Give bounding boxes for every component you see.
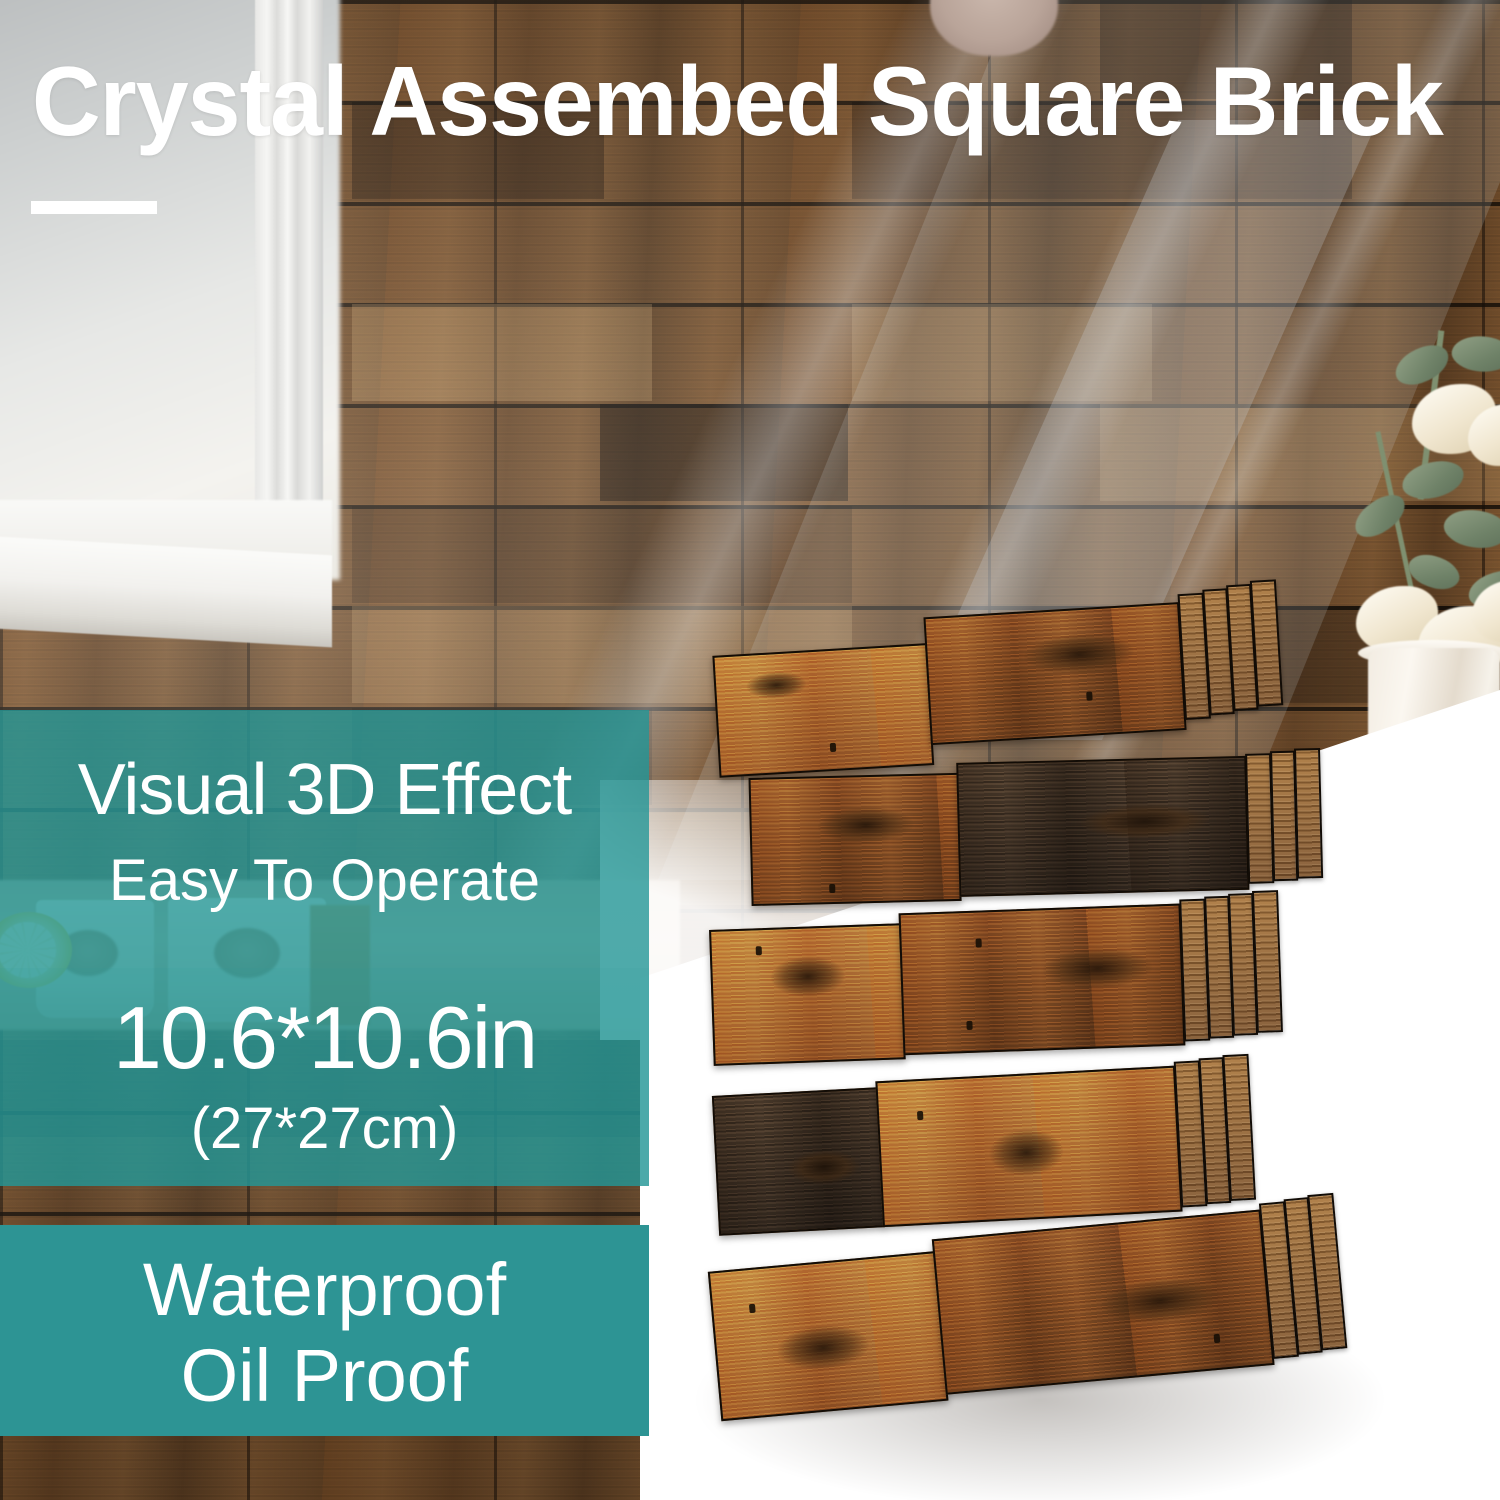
wood-knot-icon: [787, 1148, 861, 1186]
wood-knot-icon: [775, 1322, 871, 1374]
panel-tile: [712, 643, 934, 778]
wood-knot-icon: [988, 1128, 1064, 1178]
wood-knot-icon: [1023, 631, 1135, 677]
panel-nail-hole: [829, 884, 835, 893]
panel-edge-layer: [1252, 890, 1283, 1033]
panel-tile: [709, 923, 906, 1066]
feature-block-dimensions: 10.6*10.6in (27*27cm): [0, 968, 649, 1186]
feature-subline: (27*27cm): [0, 1100, 649, 1158]
feature-headline: Visual 3D Effect: [0, 754, 649, 826]
wood-knot-icon: [770, 955, 845, 998]
feature-headline: Waterproof: [0, 1253, 649, 1327]
wood-knot-icon: [817, 806, 914, 844]
panel-nail-hole: [966, 1021, 972, 1030]
panel-tile: [899, 904, 1186, 1056]
wood-knot-icon: [1099, 1274, 1222, 1329]
page-title: Crystal Assembed Square Brick: [32, 52, 1443, 150]
wood-knot-icon: [1042, 947, 1153, 991]
panel-nail-hole: [756, 946, 762, 955]
product-panel-stack: [690, 580, 1390, 1480]
panel-tile: [749, 773, 962, 906]
title-underline-rule: [31, 201, 157, 214]
wood-knot-icon: [1079, 803, 1210, 840]
panel-tile: [712, 1087, 885, 1235]
panel-nail-hole: [917, 1111, 923, 1120]
panel-tile: [923, 602, 1186, 745]
panel-tile: [875, 1066, 1182, 1228]
panel-tile: [708, 1251, 949, 1421]
wall-plank-dark: [600, 404, 848, 501]
panel-nail-hole: [1214, 1334, 1221, 1344]
panel-tile: [932, 1209, 1275, 1394]
panel-nail-hole: [976, 938, 982, 947]
wood-knot-icon: [746, 670, 807, 700]
wall-plank-light: [852, 304, 1152, 401]
feature-headline: 10.6*10.6in: [0, 994, 649, 1082]
panel-nail-hole: [1086, 691, 1093, 700]
panel-edge-layer: [1294, 748, 1323, 879]
wall-plank-light: [352, 304, 652, 401]
feature-block-waterproof: Waterproof Oil Proof: [0, 1225, 649, 1436]
panel-tile: [956, 756, 1249, 897]
feature-subline: Oil Proof: [0, 1339, 649, 1413]
product-marketing-image: Crystal Assembed Square Brick Visual 3D …: [0, 0, 1500, 1500]
feature-block-visual-3d: Visual 3D Effect Easy To Operate: [0, 710, 649, 968]
feature-subline: Easy To Operate: [0, 852, 649, 910]
panel-nail-hole: [830, 743, 837, 752]
panel-nail-hole: [749, 1304, 756, 1314]
